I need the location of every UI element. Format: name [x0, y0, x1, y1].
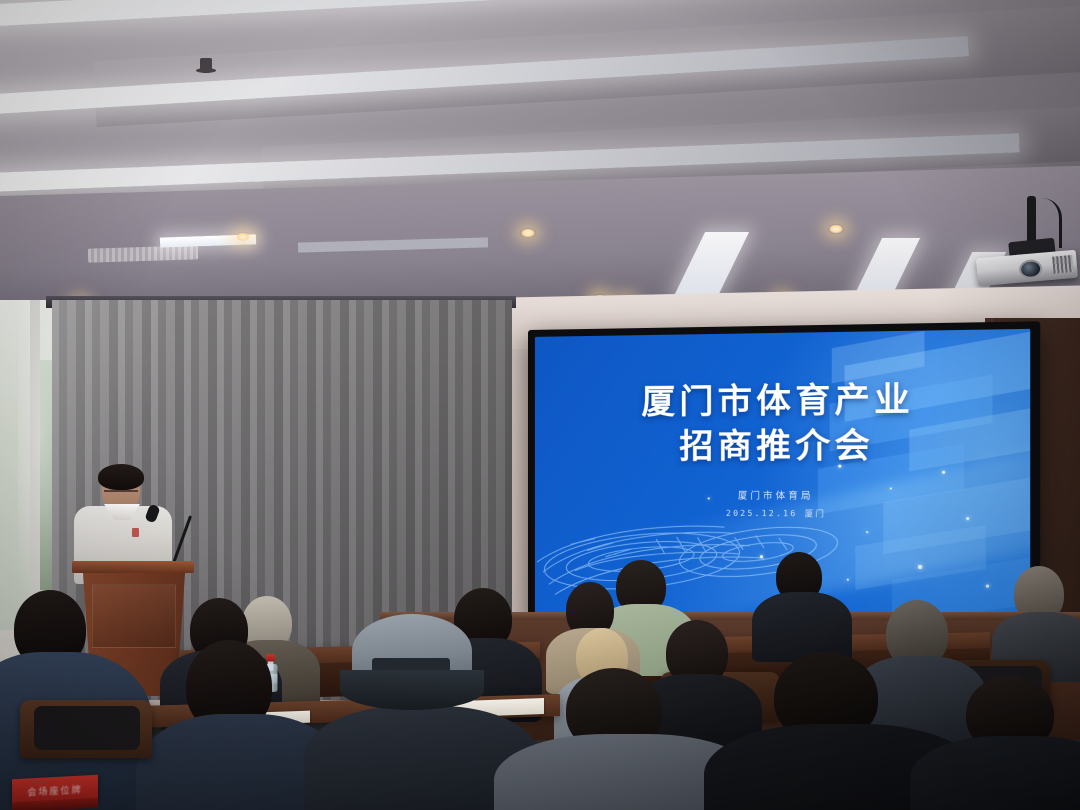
attendee-baseball-cap: [318, 614, 518, 810]
slide-title-line1: 厦门市体育产业: [535, 375, 1030, 425]
conference-room-photo: 厦门市体育产业 招商推介会 厦门市体育局 2025.12.16 厦门: [0, 0, 1080, 810]
attendee-dark-suit: [760, 552, 844, 648]
attendee-grey-puffer: [520, 668, 730, 810]
slide-title: 厦门市体育产业 招商推介会: [535, 375, 1030, 469]
podium-top: [72, 561, 194, 573]
downlight: [235, 232, 251, 242]
chair-cushion: [34, 706, 140, 750]
ceiling-projector: [975, 196, 1080, 292]
attendee-dark-jacket: [152, 640, 320, 810]
cap-brim: [340, 670, 484, 710]
presenter-glasses-icon: [104, 490, 138, 499]
presenter-hair: [98, 464, 144, 490]
slide-star-specks: [823, 456, 1019, 615]
projector-body: [976, 250, 1078, 287]
attendee-dark-jacket-right: [930, 676, 1080, 810]
name-placard-text: 会场座位牌: [27, 782, 82, 798]
attendee-glasses-back: [1000, 566, 1080, 664]
attendee-shoulders: [910, 736, 1080, 810]
projector-lens-icon: [1018, 259, 1043, 280]
presenter-badge: [132, 528, 139, 537]
sprinkler-head-icon: [200, 58, 212, 72]
projector-vent: [1052, 255, 1073, 274]
downlight: [828, 224, 844, 234]
downlight: [520, 228, 536, 238]
